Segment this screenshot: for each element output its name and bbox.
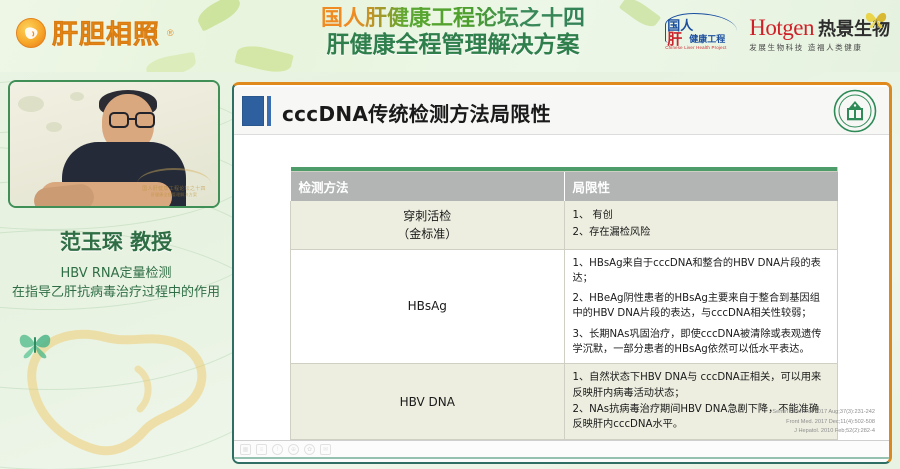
brand-logo: 肝胆相照 ® [16,14,174,51]
liver-outline-icon [18,311,218,461]
method-line1: 穿刺活检 [299,207,556,225]
photo-watermark-line2: 肝健康全程管理解决方案 [136,192,212,198]
event-title: 国人肝健康工程论坛之十四 肝健康全程管理解决方案 [288,7,618,59]
leaf-decoration [145,52,198,72]
slide-header: cccDNA传统检测方法局限性 [234,87,889,135]
butterfly-icon [865,9,887,29]
hotgen-en-name: Hotgen [749,16,814,39]
speaker-topic-line2: 在指导乙肝抗病毒治疗过程中的作用 [8,284,224,303]
table-cell-method: 穿刺活检 （金标准） [291,201,565,250]
leaf-decoration [619,0,661,31]
table-cell-limitation: 1、 有创 2、存在漏检风险 [564,201,838,250]
leaf-decoration [194,0,244,32]
references: Semin Liver Dis. 2017 Aug;37(3):231-242 … [772,408,875,436]
clhp-cn-small: 健康工程 [689,32,725,45]
speaker-topic-line1: HBV RNA定量检测 [8,265,224,284]
limitation-point: 1、自然状态下HBV DNA与 cccDNA正相关，可以用来反映肝内病毒活动状态… [573,370,830,401]
hotgen-logo: Hotgen 热景生物 发展生物科技 造福人类健康 [749,16,890,53]
limitations-table: 检测方法 局限性 穿刺活检 （金标准） 1、 有创 2、存在漏检风险 [290,167,838,444]
brand-name: 肝胆相照 [52,14,160,51]
table-row: 穿刺活检 （金标准） 1、 有创 2、存在漏检风险 [291,201,838,250]
reference-item: J Hepatol. 2010 Feb;52(2):282-4 [772,427,875,436]
reference-item: Semin Liver Dis. 2017 Aug;37(3):231-242 [772,408,875,417]
title-accent-square [242,96,264,126]
photo-watermark: 国人肝健康工程论坛之十四 肝健康全程管理解决方案 [136,168,212,198]
slide-title: cccDNA传统检测方法局限性 [282,98,551,127]
event-title-line1: 国人肝健康工程论坛之十四 [288,7,618,32]
table-row: HBV DNA 1、自然状态下HBV DNA与 cccDNA正相关，可以用来反映… [291,364,838,440]
presentation-screen: 肝胆相照 ® 国人肝健康工程论坛之十四 肝健康全程管理解决方案 国人 肝 健康工… [0,0,900,469]
footer-icon-group: ▦ ≡ ! ⊕ ✿ ✉ [240,444,331,455]
speaker-panel: 国人肝健康工程论坛之十四 肝健康全程管理解决方案 范玉琛 教授 HBV RNA定… [8,80,224,303]
china-liver-health-project-logo: 国人 肝 健康工程 Chinese Liver Health Project [665,11,739,57]
mail-icon[interactable]: ✉ [320,444,331,455]
table-row: HBsAg 1、HBsAg来自于cccDNA和整合的HBV DNA片段的表达； … [291,249,838,364]
gear-icon[interactable]: ✿ [304,444,315,455]
university-seal-icon [833,89,877,133]
globe-icon[interactable]: ⊕ [288,444,299,455]
footer-divider [234,457,889,459]
speaker-topic: HBV RNA定量检测 在指导乙肝抗病毒治疗过程中的作用 [8,265,224,303]
butterfly-icon [18,329,52,359]
warning-icon[interactable]: ! [272,444,283,455]
registered-mark: ® [167,28,174,38]
limitation-point: 1、 有创 [573,208,830,223]
limitation-point: 1、HBsAg来自于cccDNA和整合的HBV DNA片段的表达； [573,256,830,287]
slide-footer: ▦ ≡ ! ⊕ ✿ ✉ [234,440,889,462]
clhp-en: Chinese Liver Health Project [665,45,726,50]
table-cell-method: HBV DNA [291,364,565,440]
table-header-limitation: 局限性 [564,171,838,201]
event-banner: 肝胆相照 ® 国人肝健康工程论坛之十四 肝健康全程管理解决方案 国人 肝 健康工… [0,0,900,72]
limitation-point: 2、HBeAg阴性患者的HBsAg主要来自于整合到基因组中的HBV DNA片段的… [573,291,830,322]
photo-watermark-line1: 国人肝健康工程论坛之十四 [136,185,212,192]
list-icon[interactable]: ≡ [256,444,267,455]
table-header-row: 检测方法 局限性 [291,171,838,201]
glasses-icon [109,112,157,129]
grid-icon[interactable]: ▦ [240,444,251,455]
table-header-method: 检测方法 [291,171,565,201]
speaker-name: 范玉琛 教授 [8,226,224,256]
limitations-table-wrapper: 检测方法 局限性 穿刺活检 （金标准） 1、 有创 2、存在漏检风险 [290,167,838,444]
method-line2: （金标准） [299,225,556,243]
title-accent-bar [267,96,271,126]
reference-item: Front Med. 2017 Dec;11(4):502-508 [772,418,875,427]
table-cell-method: HBsAg [291,249,565,364]
limitation-point: 3、长期NAs巩固治疗，即使cccDNA被清除或表观遗传学沉默，一部分患者的HB… [573,327,830,358]
slide-container: cccDNA传统检测方法局限性 检测方法 [232,82,892,464]
liver-heart-icon [16,18,46,48]
hotgen-tagline: 发展生物科技 造福人类健康 [749,42,890,53]
leaf-decoration [234,42,294,72]
sponsor-logos: 国人 肝 健康工程 Chinese Liver Health Project H… [665,11,890,57]
limitation-point: 2、存在漏检风险 [573,225,830,240]
speaker-photo: 国人肝健康工程论坛之十四 肝健康全程管理解决方案 [8,80,220,208]
event-title-line2: 肝健康全程管理解决方案 [288,32,618,59]
table-cell-limitation: 1、HBsAg来自于cccDNA和整合的HBV DNA片段的表达； 2、HBeA… [564,249,838,364]
